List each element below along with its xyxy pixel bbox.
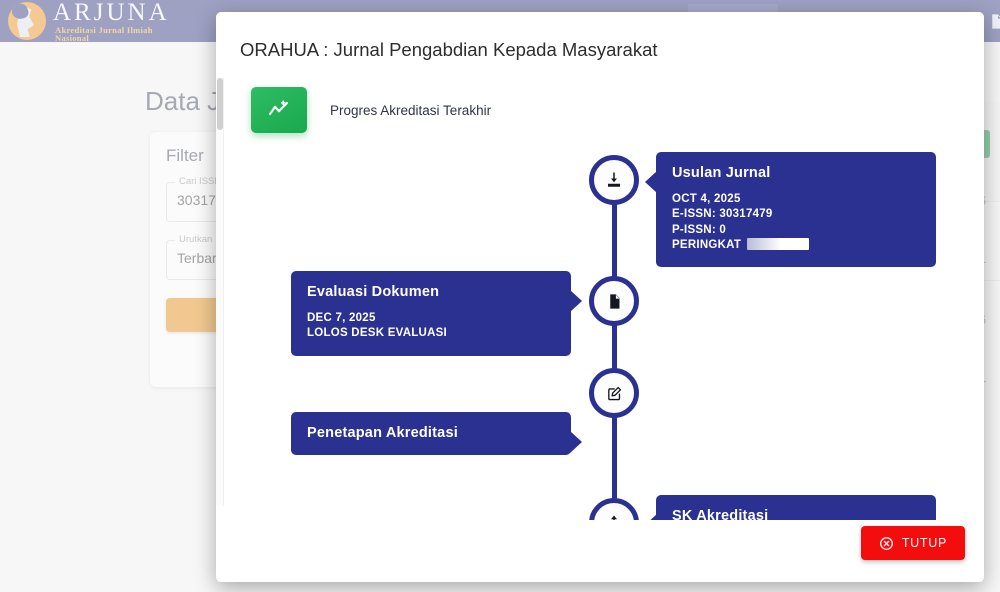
modal-body: Progres Akreditasi Terakhir Usulan Jurna… <box>216 78 984 520</box>
modal-footer: TUTUP <box>216 520 984 582</box>
download-icon <box>605 171 623 189</box>
card-line-status: LOLOS DESK EVALUASI <box>307 326 555 341</box>
timeline-card-evaluasi-dokumen: Evaluasi Dokumen DEC 7, 2025 LOLOS DESK … <box>291 271 571 356</box>
progres-label: Progres Akreditasi Terakhir <box>330 103 491 118</box>
close-modal-button[interactable]: TUTUP <box>861 526 965 560</box>
card-line-peringkat: PERINGKAT <box>672 238 920 253</box>
timeline-node-penetapan-akreditasi[interactable] <box>589 368 639 418</box>
timeline-node-sk-akreditasi[interactable] <box>589 498 639 520</box>
modal-scrollbar[interactable] <box>216 78 224 506</box>
card-title: Usulan Jurnal <box>672 165 920 181</box>
document-icon <box>606 293 623 310</box>
modal-title: ORAHUA : Jurnal Pengabdian Kepada Masyar… <box>216 12 984 61</box>
card-title: Evaluasi Dokumen <box>307 284 555 300</box>
progres-badge <box>251 87 307 133</box>
close-modal-label: TUTUP <box>902 536 947 550</box>
accreditation-timeline: Usulan Jurnal OCT 4, 2025 E-ISSN: 303174… <box>226 155 984 520</box>
progres-header: Progres Akreditasi Terakhir <box>226 78 984 133</box>
card-line-date: DEC 7, 2025 <box>307 311 555 326</box>
card-line-pissn: P-ISSN: 0 <box>672 223 920 238</box>
card-title: Penetapan Akreditasi <box>307 425 555 441</box>
modal-scrollbar-thumb[interactable] <box>217 78 223 130</box>
timeline-node-evaluasi-dokumen[interactable] <box>589 276 639 326</box>
peringkat-label: PERINGKAT <box>672 239 741 251</box>
timeline-card-usulan-jurnal: Usulan Jurnal OCT 4, 2025 E-ISSN: 303174… <box>656 152 936 267</box>
card-lines: DEC 7, 2025 LOLOS DESK EVALUASI <box>307 311 555 342</box>
progres-akreditasi-modal: ORAHUA : Jurnal Pengabdian Kepada Masyar… <box>216 12 984 582</box>
card-line-eissn: E-ISSN: 30317479 <box>672 207 920 222</box>
page-root: Data Jurnal Filter Cari ISSN/Nama Jurnal… <box>0 0 1000 592</box>
card-title: SK Akreditasi <box>672 508 920 520</box>
card-lines: OCT 4, 2025 E-ISSN: 30317479 P-ISSN: 0 P… <box>672 192 920 253</box>
upload-icon <box>605 514 623 520</box>
card-line-date: OCT 4, 2025 <box>672 192 920 207</box>
timeline-card-penetapan-akreditasi: Penetapan Akreditasi <box>291 412 571 455</box>
timeline-node-usulan-jurnal[interactable] <box>589 155 639 205</box>
timeline-card-sk-akreditasi: SK Akreditasi SK AKREDITASI <box>656 495 936 520</box>
chart-line-sparkle-icon <box>266 98 292 122</box>
timeline-spine <box>612 159 617 520</box>
redacted-value <box>747 238 809 250</box>
edit-square-icon <box>606 385 623 402</box>
circle-x-icon <box>879 536 894 551</box>
